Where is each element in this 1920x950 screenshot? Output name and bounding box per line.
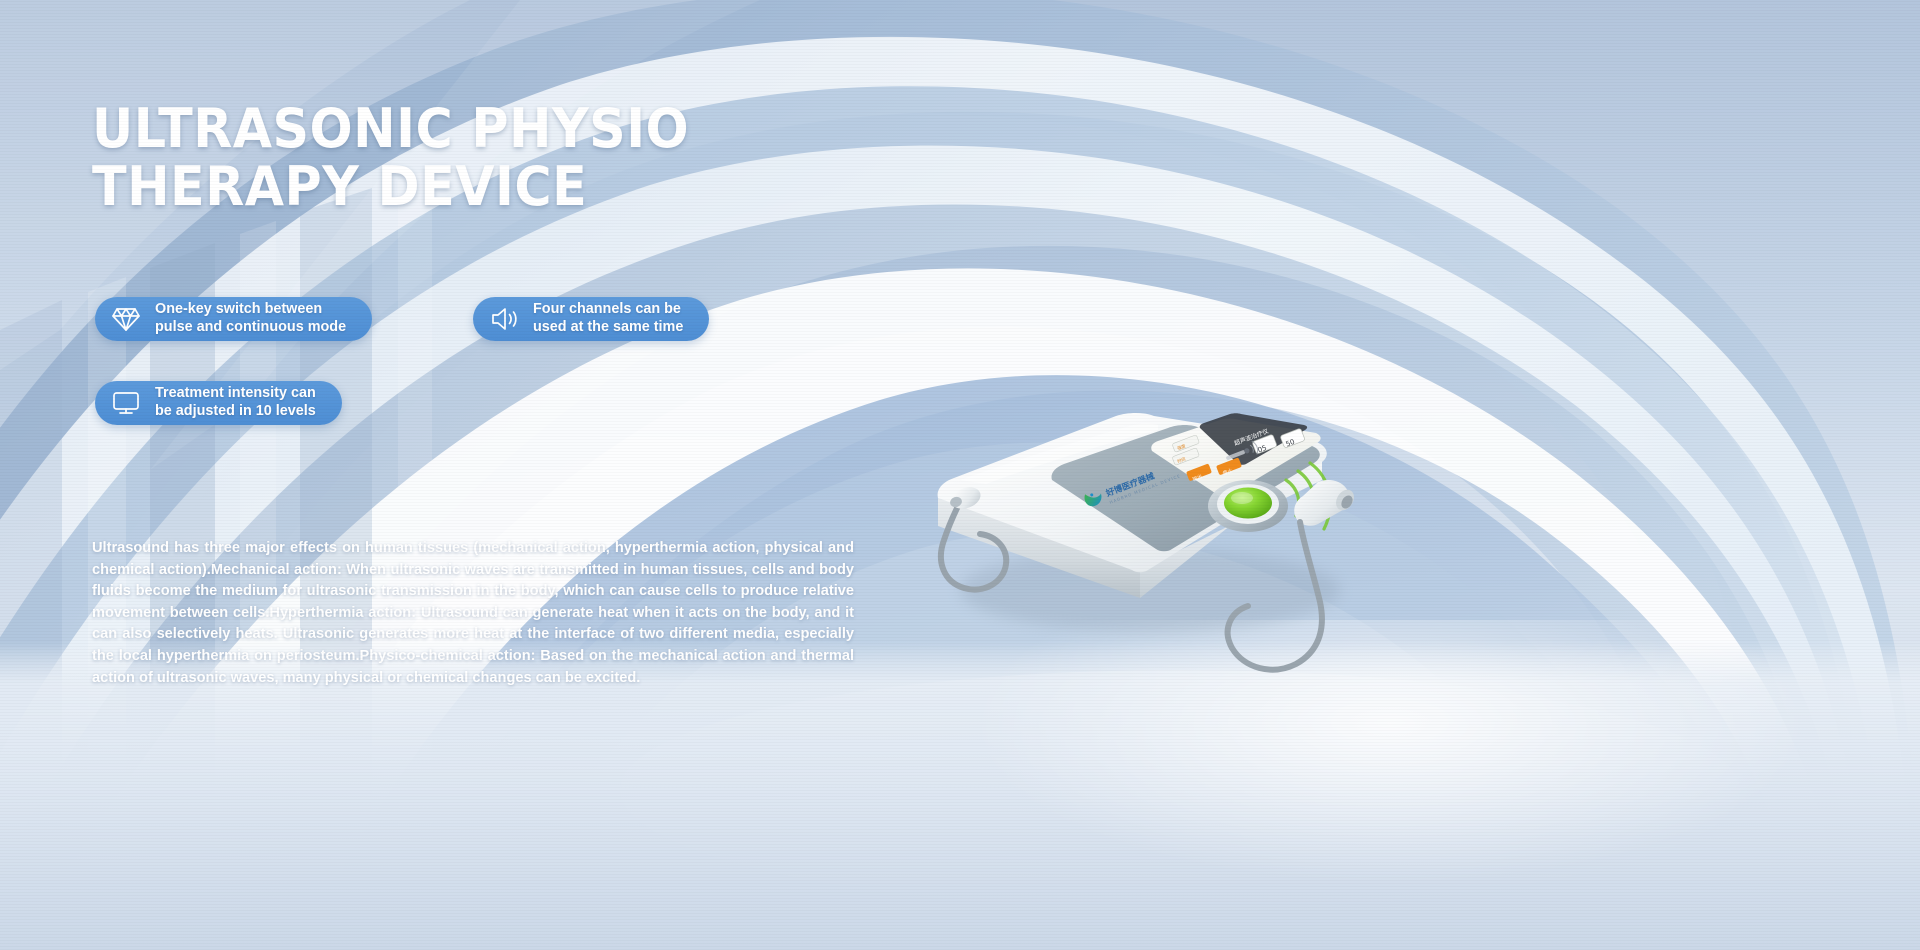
diamond-icon: [109, 302, 143, 336]
feature-badge-intensity-levels[interactable]: Treatment intensity can be adjusted in 1…: [95, 381, 342, 425]
feature-badge-four-channels[interactable]: Four channels can be used at the same ti…: [473, 297, 709, 341]
promo-banner: ULTRASONIC PHYSIO THERAPY DEVICE One-key…: [0, 0, 1920, 950]
page-title-line-2: THERAPY DEVICE: [92, 158, 863, 216]
feature-badge-label: Treatment intensity can be adjusted in 1…: [155, 385, 316, 420]
product-device-image: 超声波治疗仪 强度 时间 05 50 输出 停止: [900, 330, 1420, 750]
monitor-icon: [109, 386, 143, 420]
device-knob: [1208, 480, 1288, 532]
feature-badge-label: Four channels can be used at the same ti…: [533, 301, 683, 336]
page-title-line-1: ULTRASONIC PHYSIO: [92, 97, 689, 160]
page-title: ULTRASONIC PHYSIO THERAPY DEVICE: [92, 100, 863, 217]
description-paragraph: Ultrasound has three major effects on hu…: [92, 538, 854, 689]
speaker-wave-icon: [487, 302, 521, 336]
feature-badge-label: One-key switch between pulse and continu…: [155, 301, 346, 336]
feature-badge-pulse-mode[interactable]: One-key switch between pulse and continu…: [95, 297, 372, 341]
